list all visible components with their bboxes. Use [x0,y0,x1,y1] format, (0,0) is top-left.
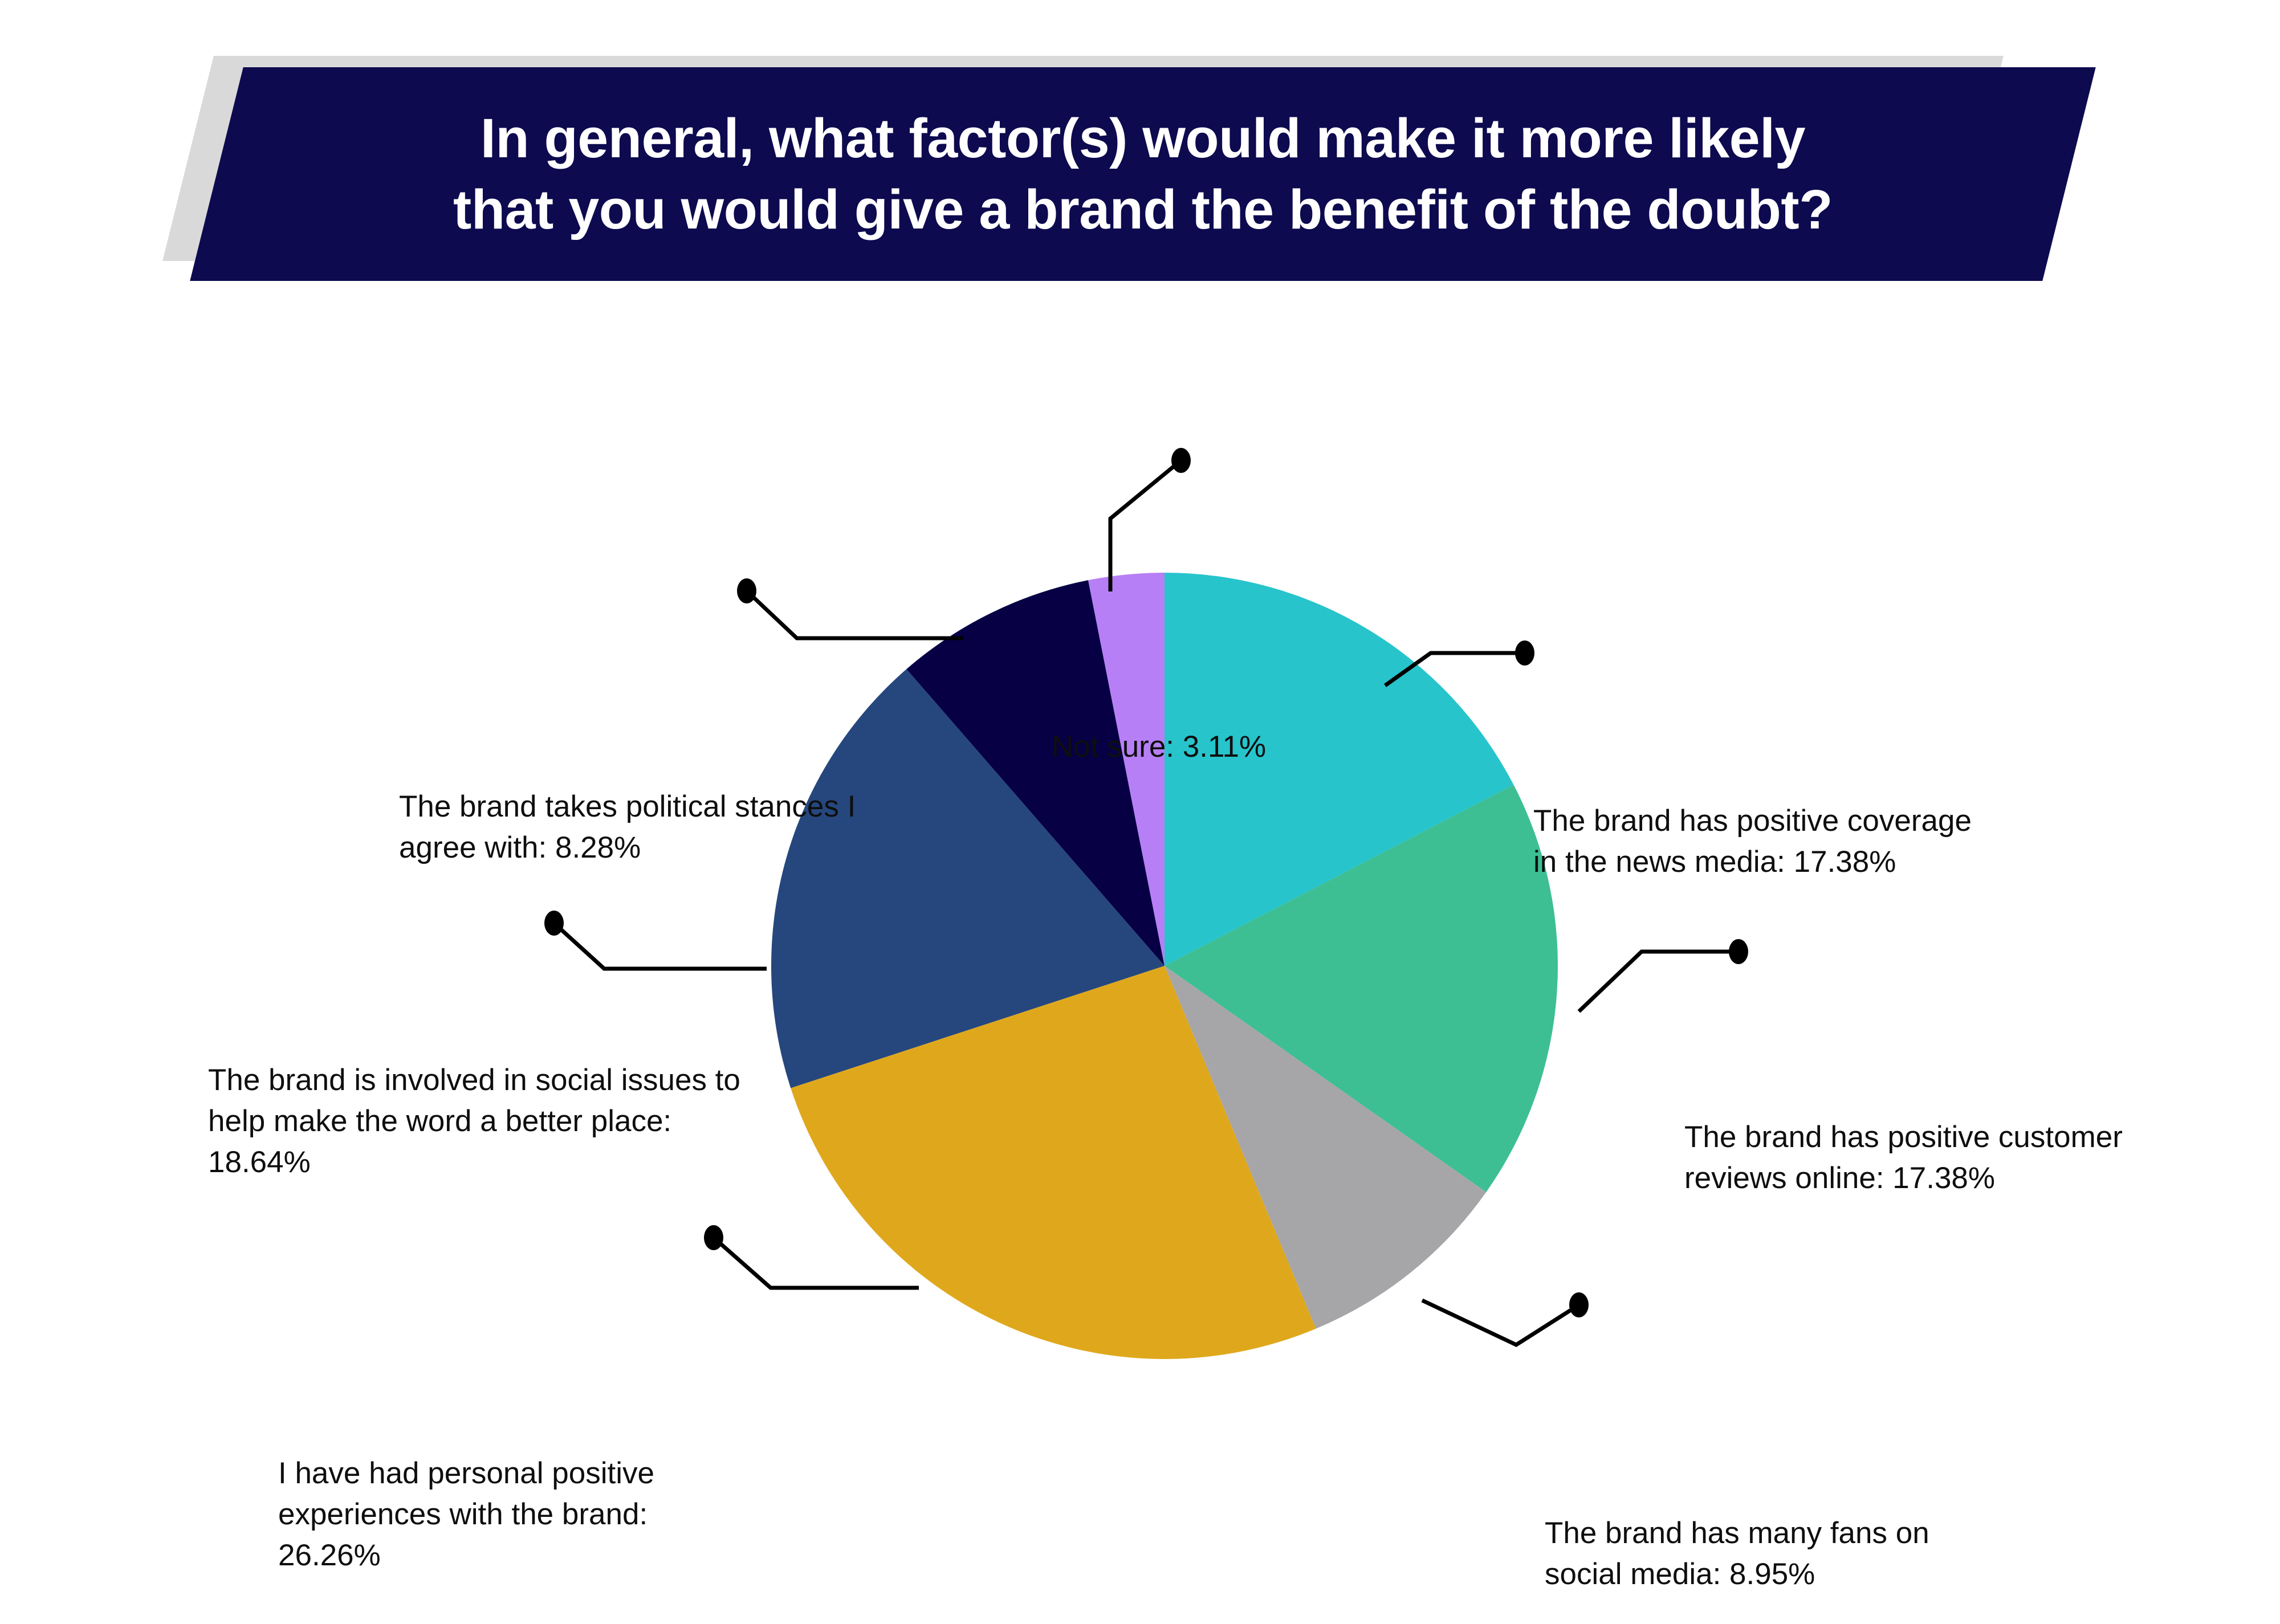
leader-customer-reviews [1579,952,1738,1011]
infographic-page: In general, what factor(s) would make it… [0,0,2280,1624]
leader-lines [0,319,2280,1624]
callout-personal-experiences: I have had personal positive experiences… [278,1453,734,1576]
leader-news-media-coverage-dot [1515,640,1534,666]
leader-not-sure [1110,460,1181,591]
leader-not-sure-dot [1171,448,1191,473]
leader-social-issues-dot [544,911,564,936]
callout-social-media-fans: The brand has many fans on social media:… [1545,1513,2023,1595]
banner-text-block: In general, what factor(s) would make it… [217,67,2069,281]
leader-social-media-fans [1422,1300,1579,1345]
page-title-line-2: that you would give a brand the benefit … [453,174,1833,245]
callout-not-sure: Not sure: 3.11% [1052,727,1348,768]
leader-social-issues [554,923,767,969]
page-title-line-1: In general, what factor(s) would make it… [481,103,1805,174]
leader-customer-reviews-dot [1729,939,1748,964]
callout-news-media-coverage: The brand has positive coverage in the n… [1533,801,2029,883]
leader-political-stances [747,591,963,638]
leader-political-stances-dot [737,578,756,603]
leader-personal-experiences [714,1238,919,1288]
leader-personal-experiences-dot [704,1225,723,1250]
callout-customer-reviews: The brand has positive customer reviews … [1684,1117,2197,1199]
leader-line-group [544,448,1748,1345]
callout-social-issues: The brand is involved in social issues t… [208,1060,789,1183]
title-banner: In general, what factor(s) would make it… [0,0,2280,319]
pie-chart-area: The brand has positive coverage in the n… [0,319,2280,1624]
leader-news-media-coverage [1385,653,1525,685]
leader-social-media-fans-dot [1569,1292,1589,1317]
callout-political-stances: The brand takes political stances I agre… [399,786,901,868]
